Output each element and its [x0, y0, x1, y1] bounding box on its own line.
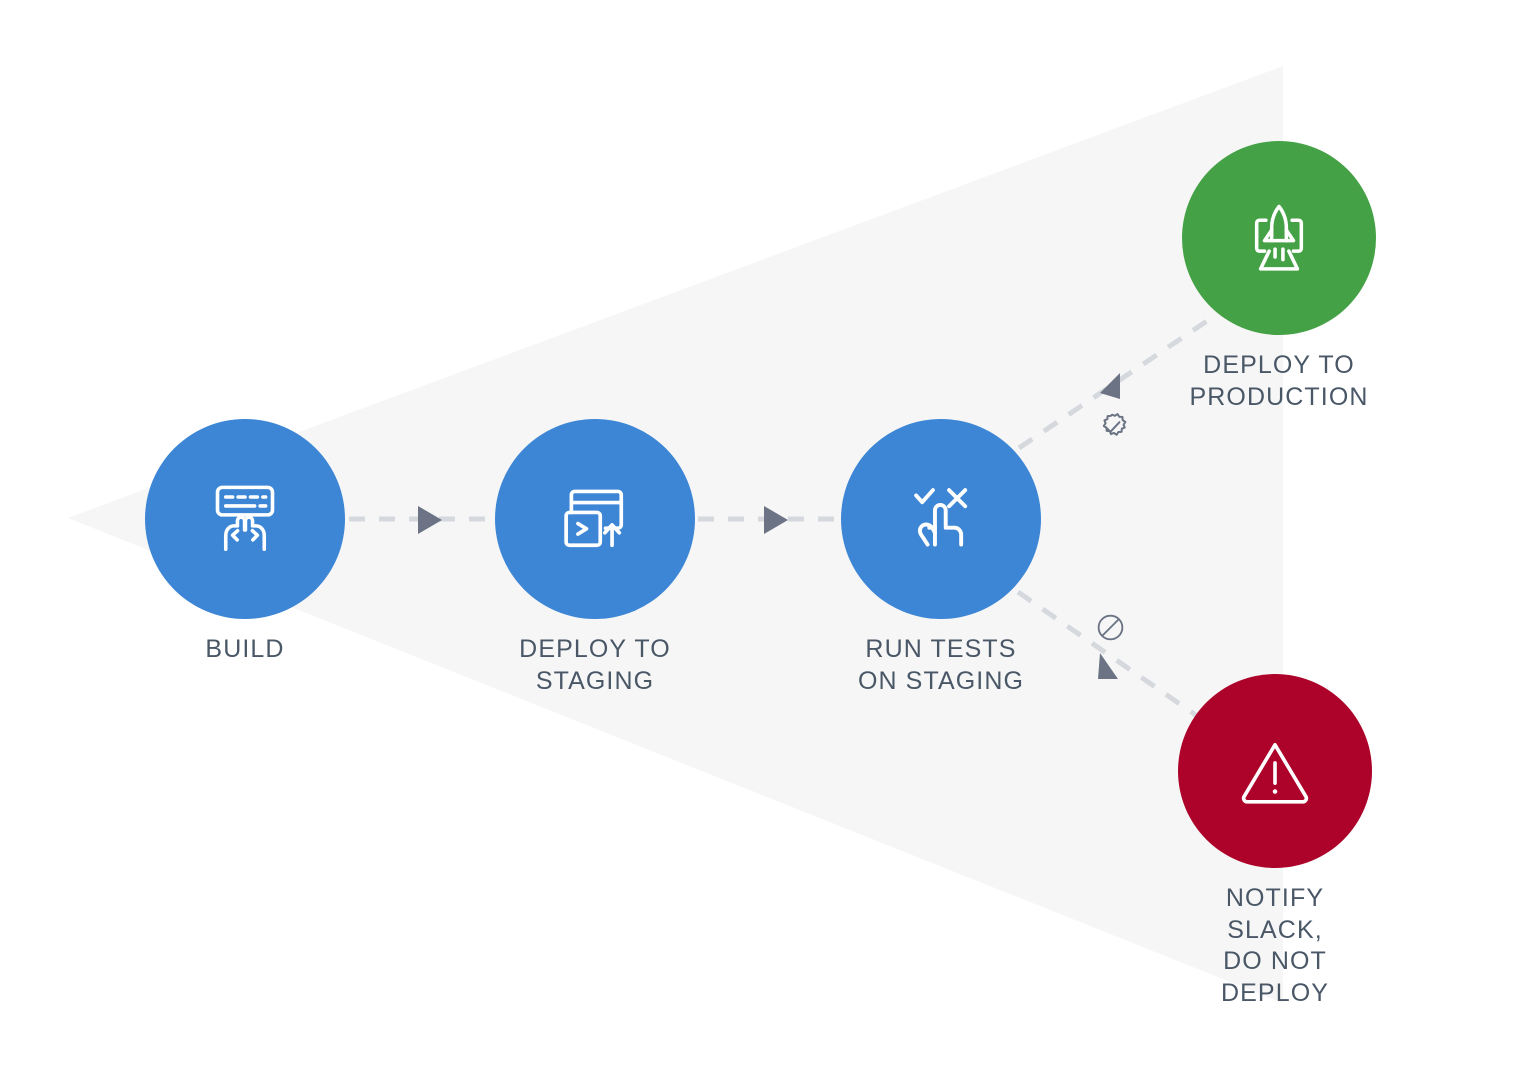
pipeline-diagram: BUILD DEPLOY TO STAGING [0, 0, 1514, 1092]
node-notify-slack[interactable]: NOTIFY SLACK, DO NOT DEPLOY [1178, 674, 1372, 1009]
node-run-tests-circle[interactable] [841, 419, 1041, 619]
hand-pointer-pass-fail-icon [898, 476, 984, 562]
node-deploy-staging-label: DEPLOY TO STAGING [519, 634, 671, 697]
node-deploy-production[interactable]: DEPLOY TO PRODUCTION [1182, 141, 1376, 413]
node-build[interactable]: BUILD [145, 419, 345, 666]
node-deploy-staging[interactable]: DEPLOY TO STAGING [495, 419, 695, 697]
terminal-window-upload-icon [553, 477, 637, 561]
node-deploy-production-label: DEPLOY TO PRODUCTION [1189, 350, 1368, 413]
connector-build-to-staging [349, 506, 494, 534]
node-deploy-staging-circle[interactable] [495, 419, 695, 619]
connector-staging-to-tests [698, 506, 841, 534]
node-notify-slack-label: NOTIFY SLACK, DO NOT DEPLOY [1178, 883, 1372, 1009]
keyboard-hands-icon [201, 475, 289, 563]
node-build-circle[interactable] [145, 419, 345, 619]
node-build-label: BUILD [205, 634, 284, 666]
node-deploy-production-circle[interactable] [1182, 141, 1376, 335]
warning-triangle-icon [1232, 728, 1318, 814]
rocket-launchpad-icon [1237, 196, 1321, 280]
node-notify-slack-circle[interactable] [1178, 674, 1372, 868]
prohibited-icon [1094, 611, 1127, 649]
gear-check-icon [1094, 410, 1130, 451]
node-run-tests[interactable]: RUN TESTS ON STAGING [841, 419, 1041, 697]
node-run-tests-label: RUN TESTS ON STAGING [858, 634, 1024, 697]
